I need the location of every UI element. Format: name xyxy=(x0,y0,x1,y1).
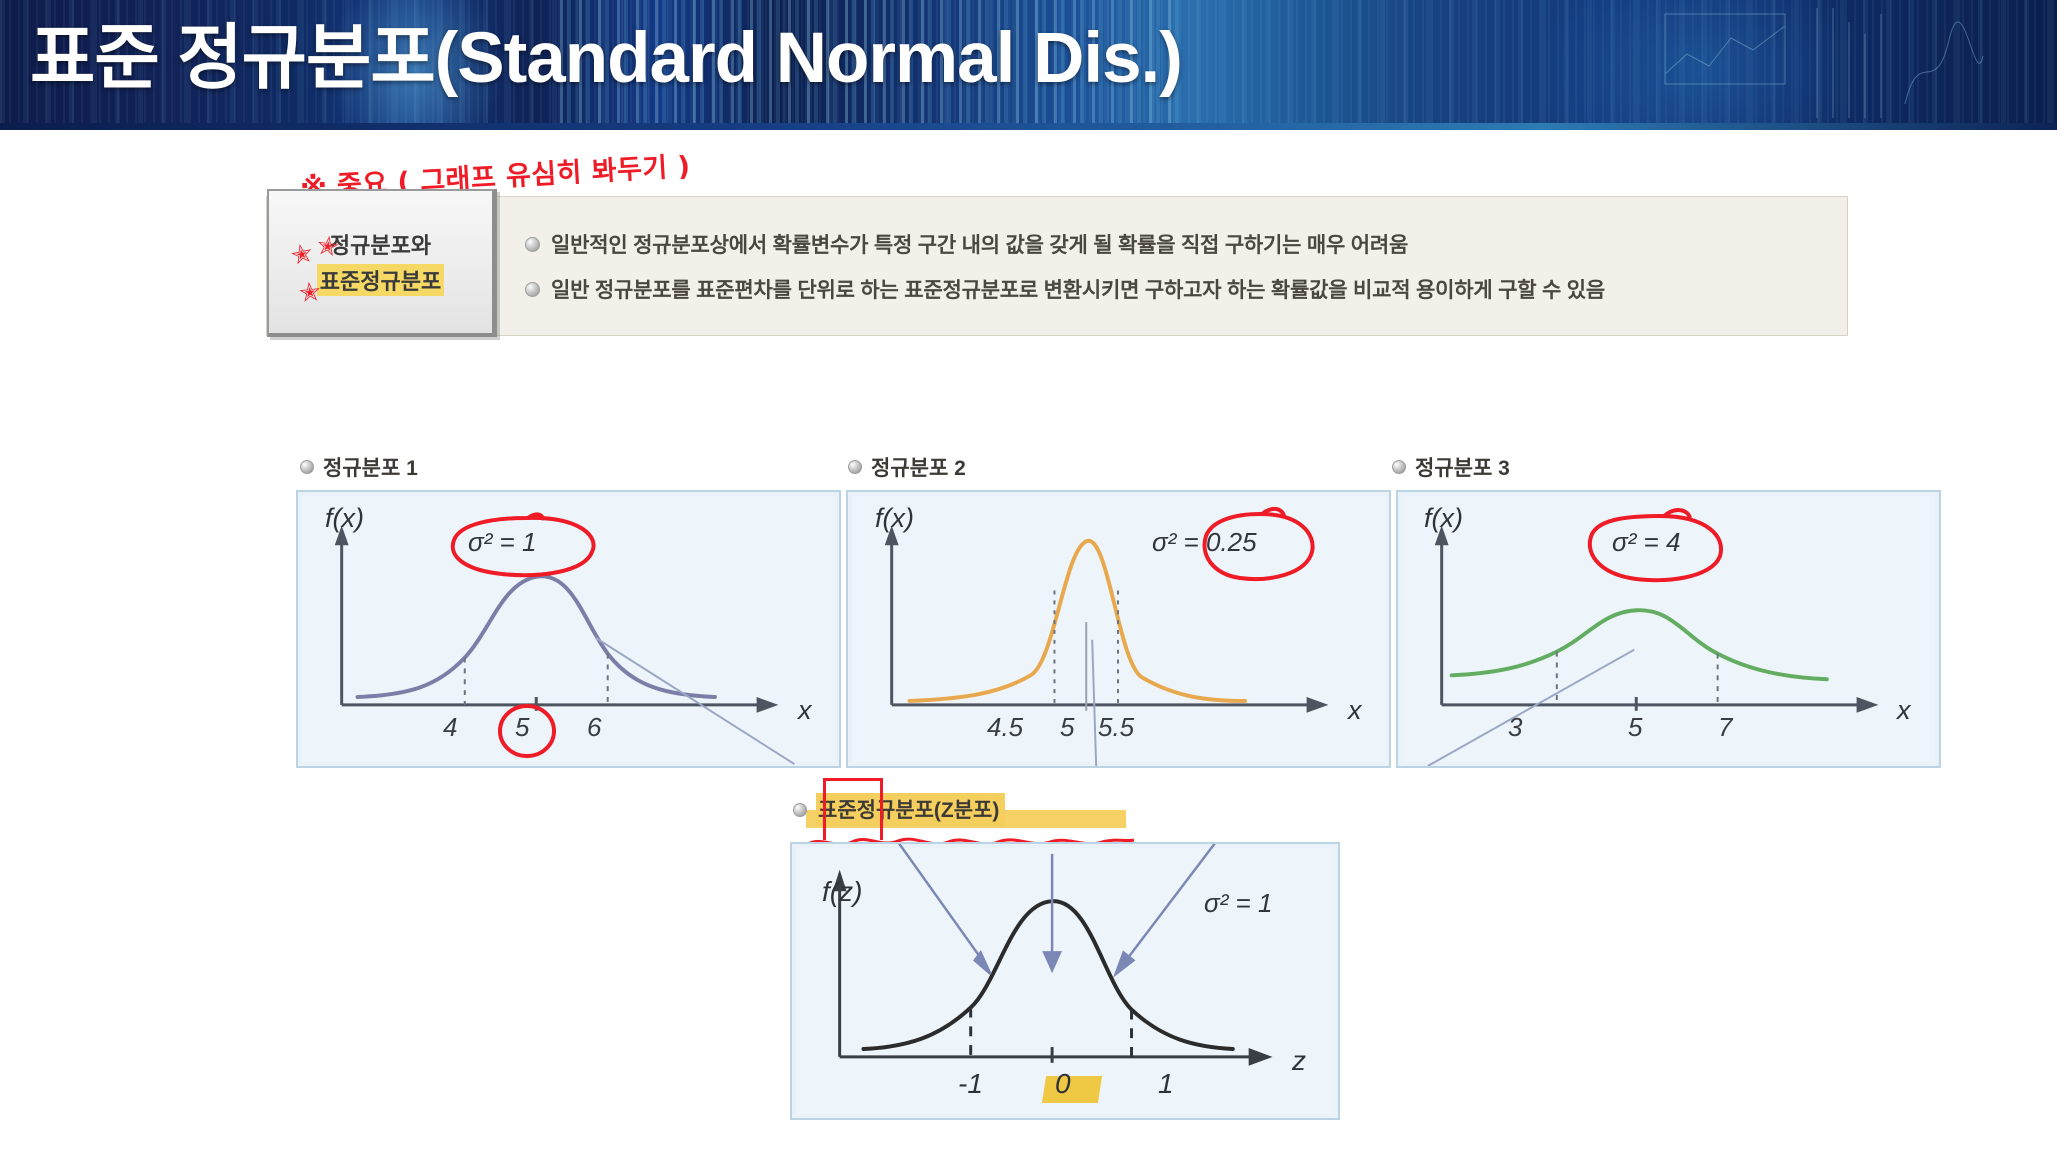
bullet-dot-icon xyxy=(525,282,540,297)
red-box-annotation xyxy=(823,778,883,840)
bullet-text: 일반적인 정규분포상에서 확률변수가 특정 구간 내의 값을 갖게 될 확률을 … xyxy=(551,230,1408,261)
list-item: 일반적인 정규분포상에서 확률변수가 특정 구간 내의 값을 갖게 될 확률을 … xyxy=(525,230,1821,261)
title-banner: 표준 정규분포(Standard Normal Dis.) xyxy=(0,0,2057,123)
sigma-label-z: σ² = 1 xyxy=(1204,888,1272,919)
standard-normal-curve xyxy=(863,901,1232,1049)
ylabel-z: f(z) xyxy=(822,876,862,908)
xtick-label: 5.5 xyxy=(1098,712,1134,743)
xlabel-3: x xyxy=(1897,695,1911,726)
x-axis-arrow-icon xyxy=(1249,1048,1273,1066)
convergence-arrows xyxy=(895,844,1219,974)
xlabel-z: z xyxy=(1292,1045,1306,1077)
bullet-dot-icon xyxy=(1392,460,1406,474)
infobox-label-tile: 정규분포와 표준정규분포 ✭ ✭ ✭ xyxy=(267,189,497,337)
panel-heading-label: 정규분포 2 xyxy=(871,452,966,482)
xtick-label: 6 xyxy=(587,712,601,743)
red-circle-annotation-sigma-3 xyxy=(1578,506,1738,586)
panel-heading-3: 정규분포 3 xyxy=(1392,452,1510,482)
ylabel-3: f(x) xyxy=(1424,503,1463,534)
panel-heading-label: 정규분포 3 xyxy=(1415,452,1510,482)
xtick-label: 5 xyxy=(1060,712,1074,743)
xtick-label: 4.5 xyxy=(987,712,1023,743)
panel-heading-label: 정규분포 1 xyxy=(323,452,418,482)
star-icon: ✭ xyxy=(315,230,341,264)
ylabel-1: f(x) xyxy=(325,503,364,534)
bullet-text: 일반 정규분포를 표준편차를 단위로 하는 표준정규분포로 변환시키면 구하고자… xyxy=(551,275,1605,306)
concept-infobox: 정규분포와 표준정규분포 ✭ ✭ ✭ 일반적인 정규분포상에서 확률변수가 특정… xyxy=(266,196,1848,336)
red-circle-annotation-sigma-2 xyxy=(1196,506,1322,586)
panel-heading-2: 정규분포 2 xyxy=(848,452,966,482)
bullet-dot-icon xyxy=(300,460,314,474)
slide-page: 표준 정규분포(Standard Normal Dis.) ※ 중요 ( 그래프… xyxy=(0,0,2057,1164)
panel-heading-1: 정규분포 1 xyxy=(300,452,418,482)
xtick-label: 5 xyxy=(1628,712,1642,743)
banner-underline xyxy=(0,123,2057,130)
ylabel-2: f(x) xyxy=(875,503,914,534)
page-title: 표준 정규분포(Standard Normal Dis.) xyxy=(30,14,1182,104)
list-item: 일반 정규분포를 표준편차를 단위로 하는 표준정규분포로 변환시키면 구하고자… xyxy=(525,275,1821,306)
red-circle-annotation-tick-5 xyxy=(496,702,558,760)
xtick-label-highlighted: 0 xyxy=(1055,1068,1071,1100)
xlabel-1: x xyxy=(798,695,812,726)
xtick-label: 7 xyxy=(1718,712,1732,743)
zero-tick-highlight xyxy=(1042,1076,1102,1103)
bullet-dot-icon xyxy=(793,803,807,817)
red-circle-annotation-sigma-1 xyxy=(440,510,610,582)
banner-chart-motif-icon xyxy=(1657,4,1987,122)
infobox-label-line1: 정규분포와 xyxy=(330,228,431,260)
bullet-dot-icon xyxy=(848,460,862,474)
xtick-label: 4 xyxy=(443,712,457,743)
star-icon: ✭ xyxy=(288,237,316,272)
xtick-label: 3 xyxy=(1508,712,1522,743)
xtick-label: 1 xyxy=(1158,1068,1174,1100)
infobox-label-line2: 표준정규분포 xyxy=(317,264,444,296)
xlabel-2: x xyxy=(1348,695,1362,726)
xtick-label: -1 xyxy=(958,1068,983,1100)
infobox-bullet-list: 일반적인 정규분포상에서 확률변수가 특정 구간 내의 값을 갖게 될 확률을 … xyxy=(525,211,1821,325)
star-icon: ✭ xyxy=(297,276,322,309)
bullet-dot-icon xyxy=(525,237,540,252)
